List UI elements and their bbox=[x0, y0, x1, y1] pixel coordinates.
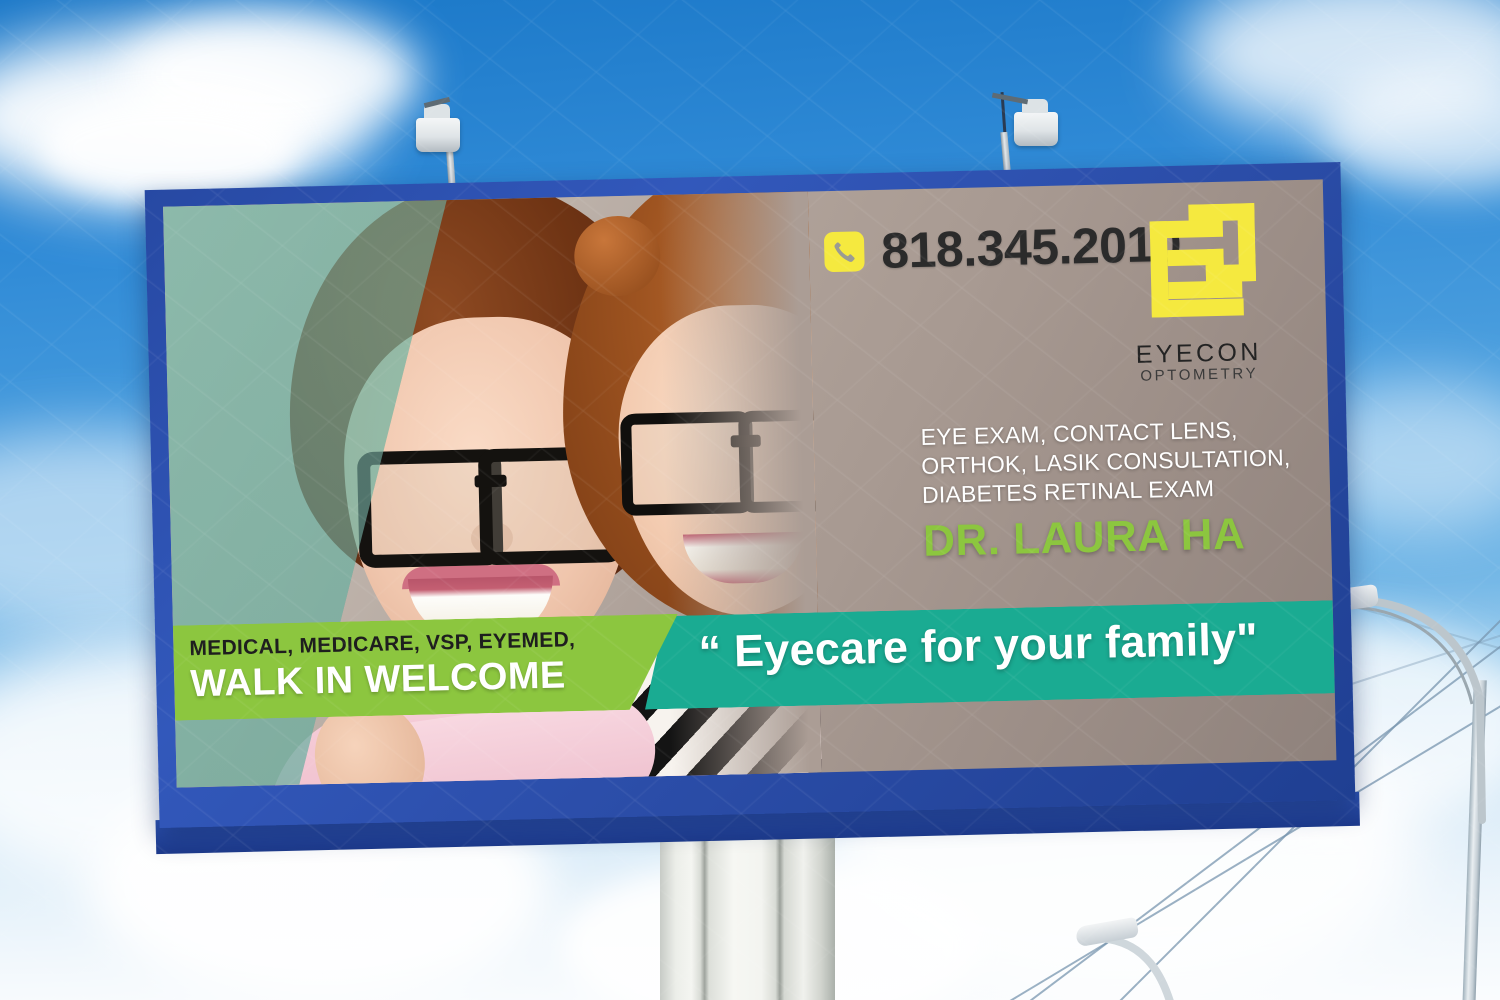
billboard-scene: 818.345.2010 bbox=[0, 0, 1500, 1000]
cloud bbox=[40, 95, 300, 200]
walk-in-welcome: WALK IN WELCOME bbox=[190, 654, 566, 706]
eyecon-maze-e-mark-icon bbox=[1136, 203, 1257, 334]
logo-tagline: OPTOMETRY bbox=[1129, 365, 1269, 387]
billboard-face: 818.345.2010 bbox=[163, 179, 1336, 787]
eyecon-logo: EYECON OPTOMETRY bbox=[1125, 203, 1269, 387]
doctor-name: DR. LAURA HA bbox=[923, 509, 1246, 567]
floodlight-head bbox=[416, 118, 460, 152]
floodlight-head bbox=[1014, 112, 1058, 146]
phone-handset-icon bbox=[824, 231, 865, 272]
logo-name: EYECON bbox=[1129, 340, 1270, 368]
billboard: 818.345.2010 bbox=[145, 162, 1356, 828]
services-list: EYE EXAM, CONTACT LENS, ORTHOK, LASIK CO… bbox=[920, 413, 1336, 510]
insurance-banner: MEDICAL, MEDICARE, VSP, EYEMED, WALK IN … bbox=[173, 614, 680, 721]
